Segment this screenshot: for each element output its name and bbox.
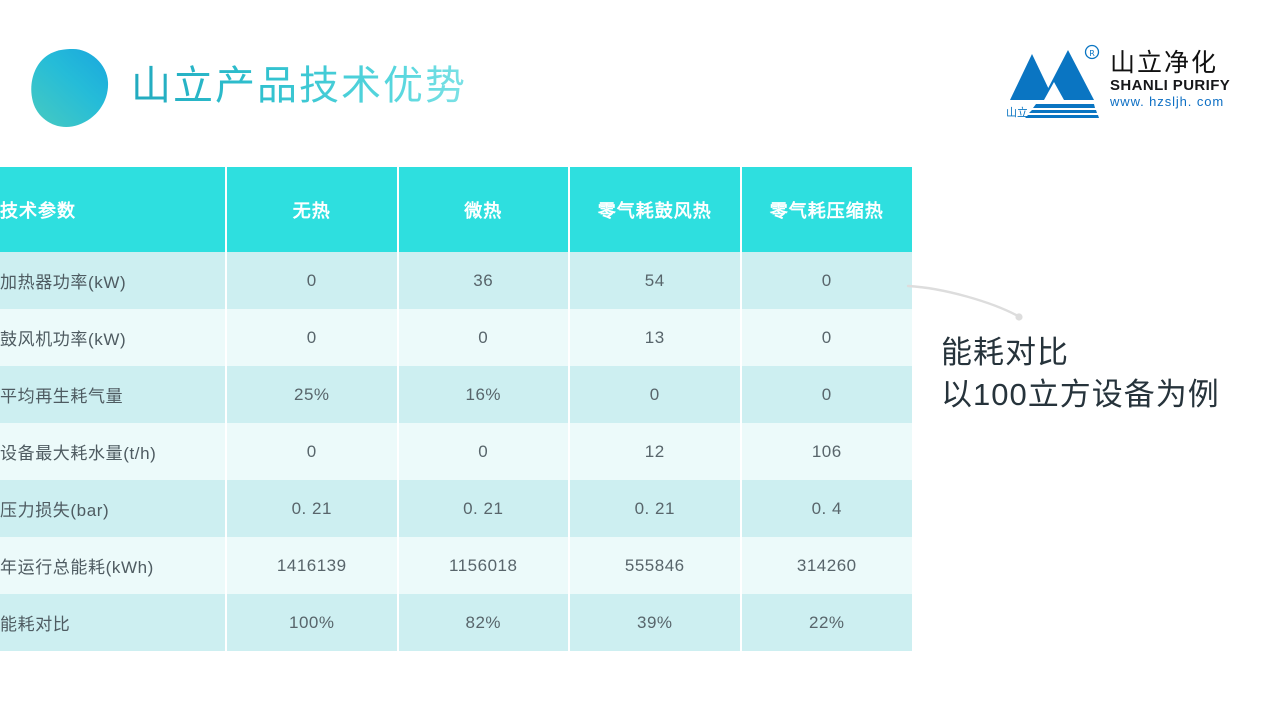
cell-value: 0: [741, 309, 913, 366]
cell-value: 0: [226, 309, 398, 366]
cell-value: 0: [741, 252, 913, 309]
row-label: 平均再生耗气量: [0, 366, 226, 423]
callout-line-1: 能耗对比: [941, 332, 1271, 374]
svg-text:山立: 山立: [1006, 105, 1028, 118]
table-row: 压力损失(bar) 0. 21 0. 21 0. 21 0. 4: [0, 480, 912, 537]
callout-text: 能耗对比 以100立方设备为例: [941, 332, 1271, 416]
cell-value: 0: [569, 366, 741, 423]
company-logo: 山立 R 山立净化 SHANLI PURIFY www. hzsljh. com: [1006, 40, 1224, 122]
column-header-no-heat: 无热: [226, 167, 398, 252]
table-row: 设备最大耗水量(t/h) 0 0 12 106: [0, 423, 912, 480]
row-label: 设备最大耗水量(t/h): [0, 423, 226, 480]
cell-value: 39%: [569, 594, 741, 651]
logo-company-en: SHANLI PURIFY: [1110, 77, 1230, 94]
column-header-compression-heat: 零气耗压缩热: [741, 167, 913, 252]
cell-value: 100%: [226, 594, 398, 651]
table-header-row: 技术参数 无热 微热 零气耗鼓风热 零气耗压缩热: [0, 167, 912, 252]
column-header-blower-heat: 零气耗鼓风热: [569, 167, 741, 252]
table-row: 平均再生耗气量 25% 16% 0 0: [0, 366, 912, 423]
cell-value: 0: [741, 366, 913, 423]
table-row: 加热器功率(kW) 0 36 54 0: [0, 252, 912, 309]
mountain-logo-icon: 山立 R: [1006, 42, 1102, 118]
technical-spec-table: 技术参数 无热 微热 零气耗鼓风热 零气耗压缩热 加热器功率(kW) 0 36 …: [0, 167, 912, 651]
logo-wordmark: 山立净化 SHANLI PURIFY www. hzsljh. com: [1110, 50, 1230, 110]
cell-value: 106: [741, 423, 913, 480]
callout-line-2: 以100立方设备为例: [941, 374, 1271, 416]
cell-value: 0. 21: [569, 480, 741, 537]
logo-website: www. hzsljh. com: [1110, 94, 1230, 110]
cell-value: 555846: [569, 537, 741, 594]
page-title: 山立产品技术优势: [131, 58, 467, 114]
cell-value: 0: [226, 423, 398, 480]
cell-value: 12: [569, 423, 741, 480]
callout-arrow-icon: [900, 272, 1050, 332]
row-label: 能耗对比: [0, 594, 226, 651]
cell-value: 314260: [741, 537, 913, 594]
decorative-blob-icon: [28, 46, 112, 130]
cell-value: 36: [398, 252, 570, 309]
cell-value: 54: [569, 252, 741, 309]
cell-value: 16%: [398, 366, 570, 423]
table-row: 能耗对比 100% 82% 39% 22%: [0, 594, 912, 651]
cell-value: 0: [398, 309, 570, 366]
cell-value: 22%: [741, 594, 913, 651]
row-label: 压力损失(bar): [0, 480, 226, 537]
table-row: 年运行总能耗(kWh) 1416139 1156018 555846 31426…: [0, 537, 912, 594]
cell-value: 25%: [226, 366, 398, 423]
cell-value: 0. 21: [226, 480, 398, 537]
cell-value: 0: [398, 423, 570, 480]
cell-value: 0: [226, 252, 398, 309]
svg-text:R: R: [1089, 49, 1095, 58]
logo-company-cn: 山立净化: [1110, 50, 1230, 77]
cell-value: 0. 21: [398, 480, 570, 537]
cell-value: 13: [569, 309, 741, 366]
slide-header: 山立产品技术优势 山立 R: [0, 0, 1280, 160]
column-header-micro-heat: 微热: [398, 167, 570, 252]
cell-value: 1156018: [398, 537, 570, 594]
row-label: 鼓风机功率(kW): [0, 309, 226, 366]
table-row: 鼓风机功率(kW) 0 0 13 0: [0, 309, 912, 366]
cell-value: 0. 4: [741, 480, 913, 537]
row-label: 年运行总能耗(kWh): [0, 537, 226, 594]
column-header-param: 技术参数: [0, 167, 226, 252]
cell-value: 1416139: [226, 537, 398, 594]
row-label: 加热器功率(kW): [0, 252, 226, 309]
cell-value: 82%: [398, 594, 570, 651]
